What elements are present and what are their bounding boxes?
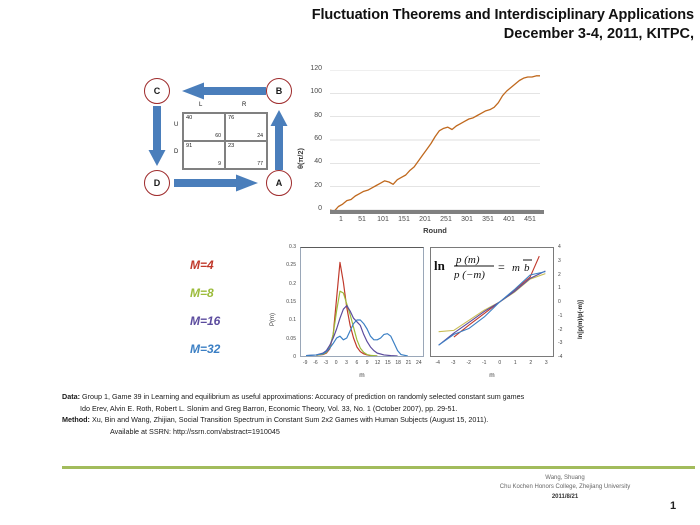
- matrix-row-header-u: U: [174, 122, 178, 128]
- pm-chart-ytick: 0: [278, 354, 296, 360]
- cycle-node-d: D: [144, 170, 170, 196]
- round-chart-ytick: 100: [302, 88, 322, 95]
- round-chart-ytick: 40: [302, 158, 322, 165]
- round-chart-plot: [330, 70, 540, 210]
- cycle-node-a: A: [266, 170, 292, 196]
- round-chart-axis-bar: [330, 210, 544, 214]
- round-chart-ytick: 60: [302, 135, 322, 142]
- pm-chart-ytick: 0.2: [278, 281, 296, 287]
- matrix-col-header-r: R: [242, 102, 246, 108]
- cycle-node-c-label: C: [154, 86, 161, 96]
- pm-chart-xlabel: m: [300, 372, 424, 379]
- cycle-node-b-label: B: [276, 86, 283, 96]
- round-chart-ytick: 80: [302, 112, 322, 119]
- pm-chart-ytick: 0.15: [278, 299, 296, 305]
- round-chart-xlabel: Round: [330, 226, 540, 235]
- reference-method-text: Xu, Bin and Wang, Zhijian, Social Transi…: [92, 415, 488, 424]
- ft-chart-xtick: 0: [494, 360, 506, 366]
- arrow-a-to-b-icon: [270, 106, 288, 170]
- matrix-cell-dr-col-payoff: 77: [257, 161, 263, 167]
- svg-text:m: m: [512, 262, 520, 274]
- pm-chart-ytick: 0.1: [278, 317, 296, 323]
- ft-chart-xtick: 3: [540, 360, 552, 366]
- reference-method-key: Method:: [62, 415, 90, 424]
- m-legend-item-0: M=4: [190, 258, 260, 272]
- m-legend-item-2: M=16: [190, 314, 260, 328]
- ft-chart-ytick: 0: [558, 299, 570, 305]
- matrix-col-header-l: L: [199, 102, 202, 108]
- arrow-d-to-a-icon: [174, 174, 266, 192]
- ft-series-M=8: [439, 274, 546, 332]
- svg-text:ln: ln: [434, 258, 446, 273]
- ft-chart-xtick: -3: [447, 360, 459, 366]
- reference-method-line: Method: Xu, Bin and Wang, Zhijian, Socia…: [62, 414, 692, 426]
- matrix-cell-ul-row-payoff: 40: [186, 115, 192, 121]
- ft-chart-ytick: 4: [558, 244, 570, 250]
- ft-chart-ytick: 2: [558, 272, 570, 278]
- round-chart-ytick: 120: [302, 65, 322, 72]
- matrix-cell-dl: 91 9: [183, 141, 225, 169]
- ft-chart-xtick: -1: [478, 360, 490, 366]
- m-legend-item-1: M=8: [190, 286, 260, 300]
- ft-chart-xlabel: m: [430, 372, 554, 379]
- m-legend-item-3: M=32: [190, 342, 260, 356]
- pm-chart-ylabel: P(m): [270, 313, 276, 326]
- footer-text: Wang, Shuang Chu Kochen Honors College, …: [440, 474, 690, 502]
- round-line-chart: θ(π/2) 120100806040200 15110115120125130…: [300, 64, 550, 236]
- pm-chart-ytick: 0.05: [278, 336, 296, 342]
- cycle-node-b: B: [266, 78, 292, 104]
- svg-text:=: =: [498, 260, 505, 274]
- matrix-cell-ul-col-payoff: 60: [215, 133, 221, 139]
- references-block: Data: Group 1, Game 39 in Learning and e…: [62, 391, 692, 438]
- matrix-grid: 40 60 76 24 91 9 23 77: [182, 112, 268, 170]
- pm-series-M=8: [316, 291, 377, 356]
- pm-series-M=4: [316, 262, 377, 356]
- matrix-cell-dl-row-payoff: 91: [186, 143, 192, 149]
- ft-chart-ytick: -4: [558, 354, 570, 360]
- matrix-cell-dr: 23 77: [225, 141, 267, 169]
- title-block: Fluctuation Theorems and Interdisciplina…: [290, 6, 694, 45]
- m-legend: M=4M=8M=16M=32: [190, 258, 260, 370]
- svg-text:p (−m): p (−m): [453, 269, 485, 280]
- ft-chart-ylabel: ln[p(m)/p(-m)]: [578, 300, 584, 339]
- pm-chart-ytick: 0.3: [278, 244, 296, 250]
- svg-text:p (m): p (m): [455, 254, 480, 266]
- reference-data-text: Group 1, Game 39 in Learning and equilib…: [82, 392, 524, 401]
- matrix-cell-ur-row-payoff: 76: [228, 115, 234, 121]
- reference-data-authors: Ido Erev, Alvin E. Roth, Robert L. Sloni…: [62, 403, 692, 415]
- ft-chart-ytick: -3: [558, 340, 570, 346]
- matrix-cell-ul: 40 60: [183, 113, 225, 141]
- payoff-matrix: L R U D 40 60 76 24 91 9 23 77: [182, 112, 268, 170]
- ft-chart-xtick: -4: [432, 360, 444, 366]
- footer-date: 2011/8/21: [440, 493, 690, 502]
- ft-formula-annotation: ln p (m) p (−m) = m b: [434, 250, 540, 282]
- reference-data-line: Data: Group 1, Game 39 in Learning and e…: [62, 391, 692, 403]
- matrix-cell-ur-col-payoff: 24: [257, 133, 263, 139]
- round-chart-ytick: 0: [302, 205, 322, 212]
- svg-text:b: b: [524, 262, 530, 274]
- matrix-row-header-d: D: [174, 149, 178, 155]
- pm-chart-plot: [300, 247, 424, 357]
- arrow-b-to-c-icon: [174, 82, 266, 100]
- page-title: Fluctuation Theorems and Interdisciplina…: [290, 6, 694, 24]
- cycle-node-a-label: A: [276, 178, 283, 188]
- ft-chart-xtick: 1: [509, 360, 521, 366]
- ft-chart-xtick: -2: [463, 360, 475, 366]
- cycle-node-c: C: [144, 78, 170, 104]
- footer-author: Wang, Shuang: [440, 474, 690, 483]
- footer-divider: [62, 466, 695, 469]
- round-chart-xtick: 451: [518, 216, 542, 223]
- page-subtitle: December 3-4, 2011, KITPC,: [290, 25, 694, 45]
- reference-data-key: Data:: [62, 392, 80, 401]
- reference-ssrn-link[interactable]: Available at SSRN: http://ssrn.com/abstr…: [62, 426, 692, 438]
- pm-chart-xtick: 24: [412, 360, 426, 366]
- ft-chart-ytick: 1: [558, 285, 570, 291]
- matrix-cell-dl-col-payoff: 9: [218, 161, 221, 167]
- ft-chart-ytick: 3: [558, 258, 570, 264]
- round-chart-ytick: 20: [302, 182, 322, 189]
- pm-chart-ytick: 0.25: [278, 262, 296, 268]
- page-number: 1: [670, 500, 676, 512]
- matrix-cell-dr-row-payoff: 23: [228, 143, 234, 149]
- footer-affiliation: Chu Kochen Honors College, Zhejiang Univ…: [440, 483, 690, 492]
- cycle-node-d-label: D: [154, 178, 161, 188]
- fluctuation-theorem-chart: ln p (m) p (−m) = m b 43210-1-2-3-4 ln[p…: [428, 244, 598, 384]
- matrix-cell-ur: 76 24: [225, 113, 267, 141]
- pm-distribution-chart: P(m) 0.30.250.20.150.10.050 -9-6-3036912…: [272, 244, 430, 384]
- ft-chart-xtick: 2: [525, 360, 537, 366]
- ft-chart-ytick: -1: [558, 313, 570, 319]
- ft-chart-ytick: -2: [558, 327, 570, 333]
- arrow-c-to-d-icon: [148, 106, 166, 170]
